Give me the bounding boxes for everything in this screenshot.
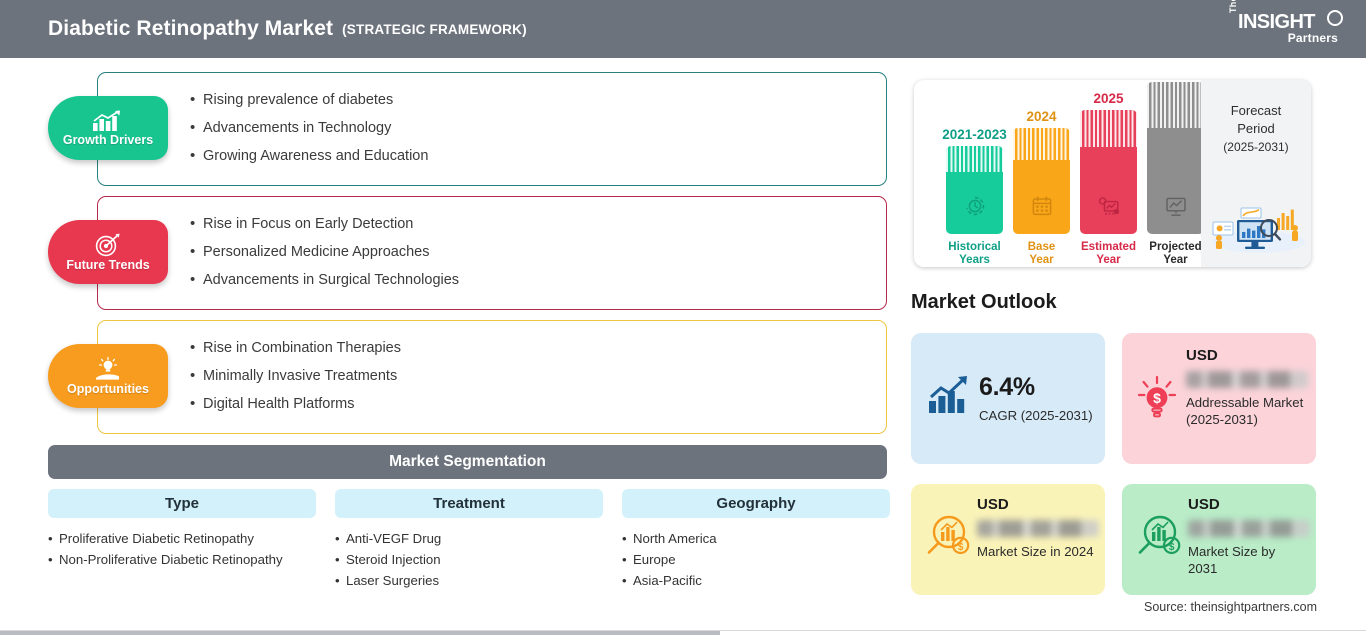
badge-growth-drivers[interactable]: Growth Drivers	[48, 96, 168, 160]
segmentation-column-treatment: Treatment Anti-VEGF Drug Steroid Injecti…	[335, 489, 603, 592]
lightbulb-dollar-icon: $	[1136, 375, 1178, 426]
cagr-label: CAGR (2025-2031)	[979, 407, 1093, 424]
caption-line-1: Base	[1028, 241, 1056, 253]
market-outlook-title: Market Outlook	[911, 291, 1057, 314]
segmentation-column-geography: Geography North America Europe Asia-Paci…	[622, 489, 890, 592]
future-trends-panel: Rise in Focus on Early Detection Persona…	[97, 196, 887, 310]
card-label: Market Size by 2031	[1188, 543, 1308, 577]
list-item: Europe	[622, 550, 890, 570]
list-item: Growing Awareness and Education	[190, 142, 886, 170]
list-item: Minimally Invasive Treatments	[190, 362, 886, 390]
timeline-caption: Projected Year	[1149, 241, 1201, 267]
opportunities-panel: Rise in Combination Therapies Minimally …	[97, 320, 887, 434]
list-item: Advancements in Technology	[190, 114, 886, 142]
currency-label: USD	[1188, 496, 1308, 513]
outlook-card-market-size-2031: $ USD Market Size by 2031	[1122, 484, 1316, 595]
outlook-card-market-size-2024: $ USD Market Size in 2024	[911, 484, 1105, 595]
caption-line-1: Historical	[948, 241, 1000, 253]
badge-opportunities[interactable]: Opportunities	[48, 344, 168, 408]
segmentation-list: Proliferative Diabetic Retinopathy Non-P…	[48, 529, 316, 570]
bar-stripe-overlay	[1013, 128, 1070, 160]
outlook-card-cagr: 6.4% CAGR (2025-2031)	[911, 333, 1105, 464]
growth-drivers-panel: Rising prevalence of diabetes Advancemen…	[97, 72, 887, 186]
list-item: Advancements in Surgical Technologies	[190, 266, 886, 294]
blurred-value	[1188, 520, 1310, 537]
page-subtitle: (STRATEGIC FRAMEWORK)	[342, 22, 527, 37]
list-item: Anti-VEGF Drug	[335, 529, 603, 549]
timeline-caption: Estimated Year	[1081, 241, 1136, 267]
card-label: Market Size in 2024	[977, 543, 1097, 560]
forecast-period-text: Forecast Period (2025-2031)	[1201, 102, 1311, 156]
card-label: Addressable Market (2025-2031)	[1186, 394, 1308, 428]
blurred-value	[977, 520, 1099, 537]
segmentation-list: Anti-VEGF Drug Steroid Injection Laser S…	[335, 529, 603, 591]
forecast-line-1: Forecast	[1231, 103, 1282, 118]
bar-stripe-overlay	[1147, 82, 1204, 128]
list-item: Personalized Medicine Approaches	[190, 238, 886, 266]
market-segmentation-columns: Type Proliferative Diabetic Retinopathy …	[48, 489, 887, 599]
logo-partners-text: Partners	[1288, 31, 1338, 45]
bar-chart-arrow-up-icon	[927, 375, 971, 420]
badge-future-trends[interactable]: Future Trends	[48, 220, 168, 284]
bar-shape	[1013, 128, 1070, 234]
cagr-value: 6.4%	[979, 373, 1093, 402]
currency-label: USD	[977, 496, 1097, 513]
svg-text:$: $	[1153, 390, 1161, 406]
badge-label: Growth Drivers	[63, 133, 153, 147]
segmentation-column-type: Type Proliferative Diabetic Retinopathy …	[48, 489, 316, 571]
segmentation-list: North America Europe Asia-Pacific	[622, 529, 890, 591]
hand-lightbulb-icon	[92, 357, 124, 381]
bar-shape	[1080, 110, 1137, 234]
list-item: Rise in Combination Therapies	[190, 334, 886, 362]
list-item: Asia-Pacific	[622, 571, 890, 591]
timeline-year-label: 2025	[1093, 91, 1123, 106]
segmentation-column-title: Type	[48, 489, 316, 518]
svg-text:$: $	[1169, 542, 1175, 553]
infographic-page: Diabetic Retinopathy Market (STRATEGIC F…	[0, 0, 1366, 635]
timeline-year-label: 2024	[1026, 109, 1056, 124]
timeline-caption: Base Year	[1028, 241, 1056, 267]
target-dart-icon	[94, 233, 122, 257]
bar-stripe-overlay	[946, 146, 1003, 172]
page-title: Diabetic Retinopathy Market	[48, 17, 333, 41]
forecast-line-2: Period	[1237, 121, 1275, 136]
study-period-timeline-chart: 2021-2023 Historical Years	[914, 80, 1311, 267]
forecast-gear-chart-icon	[1097, 195, 1121, 222]
currency-label: USD	[1186, 347, 1308, 364]
forecast-period-panel: Forecast Period (2025-2031)	[1201, 80, 1311, 267]
blurred-value	[1186, 371, 1308, 388]
list-item: Proliferative Diabetic Retinopathy	[48, 529, 316, 549]
horizontal-scrollbar[interactable]	[0, 630, 1366, 635]
caption-line-2: Year	[1029, 254, 1053, 266]
bar-shape	[946, 146, 1003, 234]
page-header: Diabetic Retinopathy Market (STRATEGIC F…	[0, 0, 1366, 58]
market-segmentation-header: Market Segmentation	[48, 445, 887, 479]
list-item: Rising prevalence of diabetes	[190, 86, 886, 114]
caption-line-2: Year	[1163, 254, 1187, 266]
clock-history-icon	[964, 195, 986, 222]
forecast-line-3: (2025-2031)	[1223, 140, 1288, 154]
magnifier-bar-chart-dollar-icon: $	[1134, 512, 1182, 567]
segmentation-column-title: Treatment	[335, 489, 603, 518]
caption-line-1: Projected	[1149, 241, 1201, 253]
list-item: Non-Proliferative Diabetic Retinopathy	[48, 550, 316, 570]
list-item: North America	[622, 529, 890, 549]
timeline-bars: 2021-2023 Historical Years	[928, 80, 1188, 267]
list-item: Laser Surgeries	[335, 571, 603, 591]
presentation-chart-icon	[1164, 195, 1188, 222]
badge-label: Future Trends	[66, 258, 149, 272]
business-analytics-illustration	[1207, 196, 1307, 259]
magnifier-bar-chart-dollar-icon: $	[923, 512, 971, 567]
segmentation-column-title: Geography	[622, 489, 890, 518]
insight-partners-logo: The INSIGHT Partners	[1226, 10, 1344, 50]
caption-line-2: Year	[1096, 254, 1120, 266]
timeline-caption: Historical Years	[948, 241, 1000, 267]
outlook-card-addressable-market: $ USD Addressable Market (2025-2031)	[1122, 333, 1316, 464]
badge-label: Opportunities	[67, 382, 149, 396]
bar-chart-growth-icon	[91, 110, 125, 132]
calendar-icon	[1031, 195, 1053, 222]
caption-line-2: Years	[959, 254, 990, 266]
bar-stripe-overlay	[1080, 110, 1137, 147]
logo-the-text: The	[1228, 0, 1238, 13]
bar-shape	[1147, 82, 1204, 234]
logo-ring-icon	[1327, 10, 1343, 26]
source-attribution: Source: theinsightpartners.com	[1144, 600, 1317, 614]
timeline-year-label: 2021-2023	[942, 127, 1007, 142]
growth-drivers-list: Rising prevalence of diabetes Advancemen…	[190, 86, 886, 170]
list-item: Digital Health Platforms	[190, 390, 886, 418]
svg-text:$: $	[958, 542, 964, 553]
list-item: Rise in Focus on Early Detection	[190, 210, 886, 238]
list-item: Steroid Injection	[335, 550, 603, 570]
future-trends-list: Rise in Focus on Early Detection Persona…	[190, 210, 886, 294]
caption-line-1: Estimated	[1081, 241, 1136, 253]
opportunities-list: Rise in Combination Therapies Minimally …	[190, 334, 886, 418]
